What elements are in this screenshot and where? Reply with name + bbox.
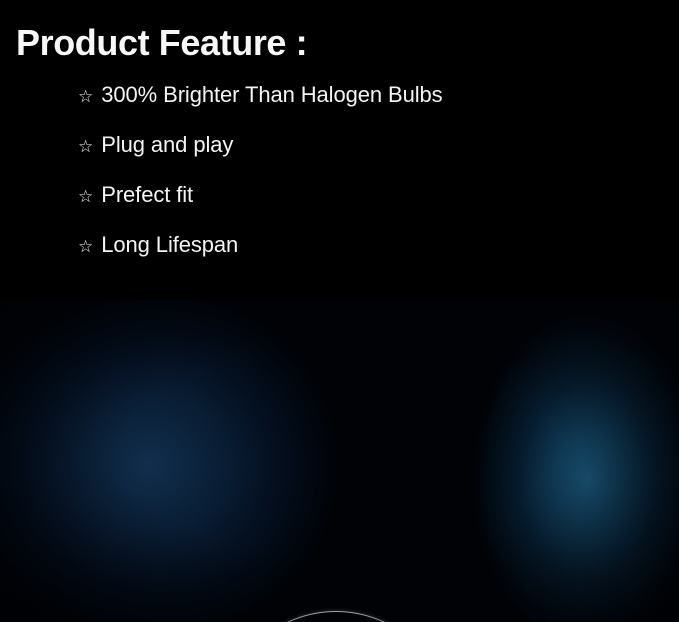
feature-label: 300% Brighter Than Halogen Bulbs xyxy=(101,84,442,106)
product-photo-section: 121 121 121 121 xyxy=(0,280,679,622)
feature-label: Plug and play xyxy=(101,134,233,156)
list-item: ☆ Plug and play xyxy=(78,134,638,184)
background-glow-right xyxy=(473,310,679,622)
star-outline-icon: ☆ xyxy=(78,238,93,255)
background-glow-left xyxy=(0,285,340,622)
feature-label: Prefect fit xyxy=(101,184,193,206)
star-outline-icon: ☆ xyxy=(78,138,93,155)
star-outline-icon: ☆ xyxy=(78,188,93,205)
product-feature-banner: Product Feature : ☆ 300% Brighter Than H… xyxy=(0,0,679,622)
feature-list: ☆ 300% Brighter Than Halogen Bulbs ☆ Plu… xyxy=(78,84,638,284)
feature-label: Long Lifespan xyxy=(101,234,238,256)
feature-text-section: Product Feature : ☆ 300% Brighter Than H… xyxy=(0,0,679,300)
list-item: ☆ Long Lifespan xyxy=(78,234,638,284)
page-title: Product Feature : xyxy=(16,22,307,63)
star-outline-icon: ☆ xyxy=(78,88,93,105)
list-item: ☆ 300% Brighter Than Halogen Bulbs xyxy=(78,84,638,134)
list-item: ☆ Prefect fit xyxy=(78,184,638,234)
